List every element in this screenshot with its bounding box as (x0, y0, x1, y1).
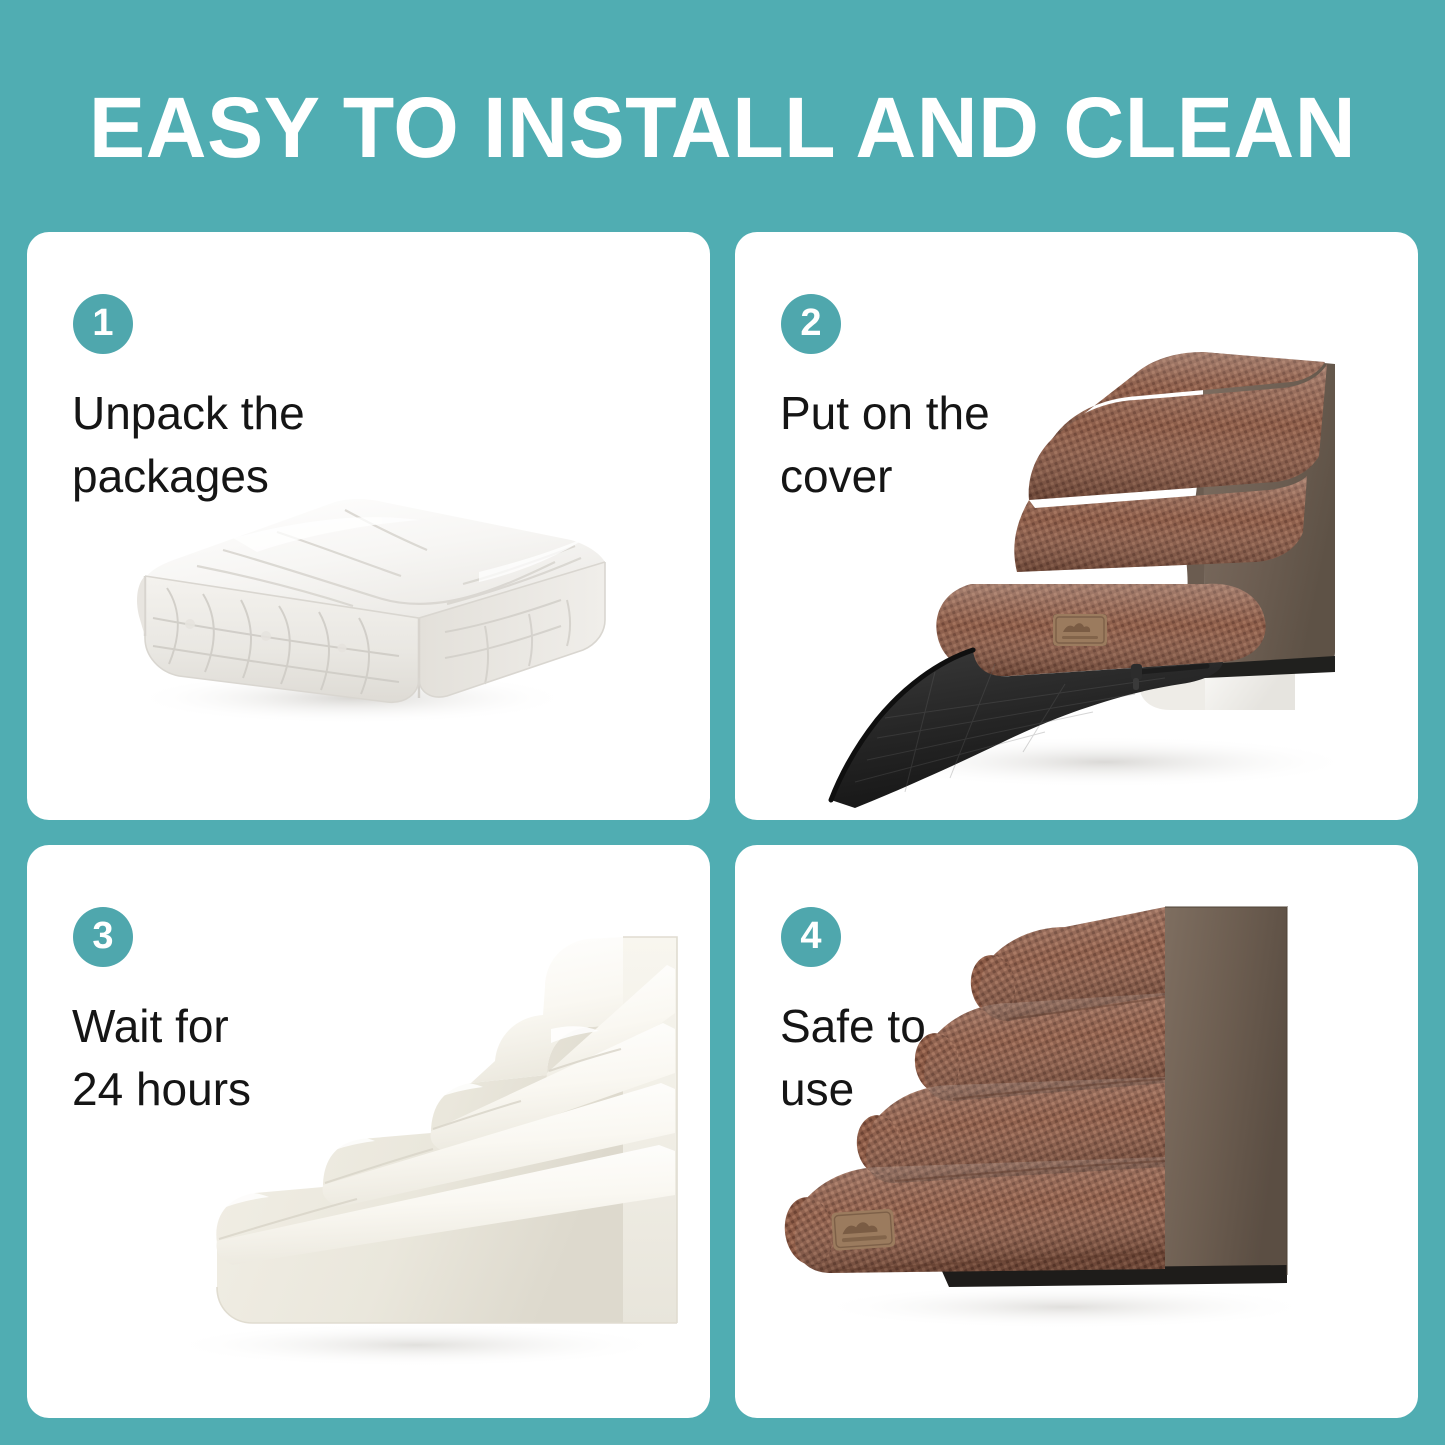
step-number-2: 2 (800, 304, 821, 342)
step-card-4: 4 Safe to use (735, 845, 1418, 1418)
step-card-2: 2 Put on the cover (735, 232, 1418, 820)
page-title: EASY TO INSTALL AND CLEAN (89, 80, 1356, 176)
leather-logo-tag (1053, 614, 1107, 646)
step-card-1: 1 Unpack the packages (27, 232, 710, 820)
step-number-badge-4: 4 (781, 907, 841, 967)
step-caption-1: Unpack the packages (72, 382, 452, 508)
steps-grid: 1 Unpack the packages (27, 232, 1418, 1418)
step-number-badge-2: 2 (781, 294, 841, 354)
step-number-badge-1: 1 (73, 294, 133, 354)
zipper-pull (1131, 664, 1142, 690)
step-caption-4: Safe to use (780, 995, 1160, 1121)
step-card-3: 3 Wait for 24 hours (27, 845, 710, 1418)
step-number-4: 4 (800, 917, 821, 955)
step-number-3: 3 (92, 917, 113, 955)
leather-logo-tag (831, 1209, 895, 1251)
step-caption-2: Put on the cover (780, 382, 1160, 508)
header-banner: EASY TO INSTALL AND CLEAN (0, 78, 1445, 178)
step-number-1: 1 (92, 304, 113, 342)
infographic-page: EASY TO INSTALL AND CLEAN 1 Unpack the p… (0, 0, 1445, 1445)
step-caption-3: Wait for 24 hours (72, 995, 452, 1121)
step-number-badge-3: 3 (73, 907, 133, 967)
